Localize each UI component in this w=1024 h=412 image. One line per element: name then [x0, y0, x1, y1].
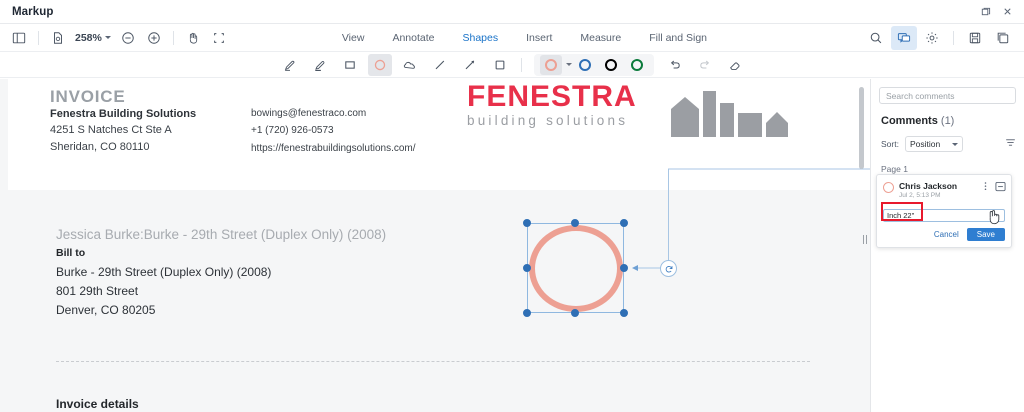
panel-splitter[interactable] — [861, 232, 869, 246]
panel-toggle-icon[interactable] — [6, 26, 32, 50]
tab-fill-and-sign[interactable]: Fill and Sign — [635, 28, 721, 48]
handle-bottom-right[interactable] — [620, 309, 628, 317]
cancel-button[interactable]: Cancel — [931, 228, 962, 241]
rectangle-tool-icon[interactable] — [338, 54, 362, 76]
sort-row: Sort: Position — [881, 135, 1016, 153]
app-title: Markup — [12, 6, 54, 18]
toolbar-divider — [38, 31, 39, 45]
comments-heading-label: Comments — [881, 115, 938, 127]
sort-value: Position — [910, 139, 940, 149]
shape-toolbar-divider — [521, 58, 522, 72]
page-icon[interactable] — [45, 26, 71, 50]
gear-icon[interactable] — [919, 26, 945, 50]
eraser-icon[interactable] — [723, 54, 747, 76]
search-comments-input[interactable]: Search comments — [879, 87, 1016, 104]
close-icon[interactable] — [996, 2, 1018, 22]
line-tool-icon[interactable] — [428, 54, 452, 76]
zoom-in-icon[interactable] — [141, 26, 167, 50]
toolbar-divider-2 — [173, 31, 174, 45]
redo-icon[interactable] — [693, 54, 717, 76]
mode-tabs: View Annotate Shapes Insert Measure Fill… — [328, 28, 721, 48]
chevron-down-icon[interactable] — [566, 63, 572, 66]
title-bar: Markup — [0, 0, 1024, 24]
selection-bounding-box — [527, 223, 624, 313]
color-swatch-green[interactable] — [626, 55, 648, 75]
comment-connector-line — [0, 79, 870, 412]
arrow-tool-icon[interactable] — [458, 54, 482, 76]
tab-insert[interactable]: Insert — [512, 28, 566, 48]
highlight-box — [881, 202, 923, 221]
tab-shapes[interactable]: Shapes — [448, 28, 512, 48]
circle-shape-icon — [883, 182, 894, 193]
marquee-select-icon[interactable] — [206, 26, 232, 50]
handle-top-right[interactable] — [620, 219, 628, 227]
comments-heading: Comments (1) — [881, 115, 1024, 127]
zoom-level-dropdown[interactable]: 258% — [71, 32, 115, 44]
ellipse-tool-icon[interactable] — [368, 54, 392, 76]
highlighter-tool-icon[interactable] — [308, 54, 332, 76]
pen-tool-icon[interactable] — [278, 54, 302, 76]
color-swatch-group — [534, 54, 654, 76]
tab-annotate[interactable]: Annotate — [378, 28, 448, 48]
search-icon[interactable] — [863, 26, 889, 50]
chevron-down-icon — [952, 143, 958, 146]
comments-count: (1) — [941, 115, 954, 127]
shape-toolbar — [0, 52, 1024, 78]
tab-view[interactable]: View — [328, 28, 379, 48]
annotation-layer — [0, 79, 870, 412]
handle-middle-left[interactable] — [523, 264, 531, 272]
page-group-label: Page 1 — [881, 164, 1024, 174]
color-swatch-black[interactable] — [600, 55, 622, 75]
zoom-level-value: 258% — [75, 32, 102, 44]
tab-measure[interactable]: Measure — [566, 28, 635, 48]
comments-sidebar: Search comments Comments (1) Sort: Posit… — [870, 79, 1024, 412]
handle-middle-right[interactable] — [620, 264, 628, 272]
handle-bottom-left[interactable] — [523, 309, 531, 317]
rotate-anchor-icon[interactable] — [660, 260, 677, 277]
comment-meta: Chris Jackson Jul 2, 5:13 PM — [899, 181, 975, 200]
color-swatch-blue[interactable] — [574, 55, 596, 75]
sort-label: Sort: — [881, 139, 899, 149]
undo-icon[interactable] — [663, 54, 687, 76]
chevron-down-icon — [105, 36, 111, 39]
document-canvas[interactable]: INVOICE Fenestra Building Solutions 4251… — [0, 79, 870, 412]
comment-header: Chris Jackson Jul 2, 5:13 PM — [883, 181, 1005, 200]
handle-top-left[interactable] — [523, 219, 531, 227]
right-toolbar — [863, 26, 1024, 50]
search-comments-placeholder: Search comments — [886, 91, 955, 101]
comment-author: Chris Jackson — [899, 181, 975, 191]
comment-timestamp: Jul 2, 5:13 PM — [899, 191, 975, 200]
more-options-icon[interactable] — [980, 181, 990, 194]
zoom-out-icon[interactable] — [115, 26, 141, 50]
mouse-cursor — [986, 209, 1002, 232]
square-tool-icon[interactable] — [488, 54, 512, 76]
comments-icon[interactable] — [891, 26, 917, 50]
save-icon[interactable] — [962, 26, 988, 50]
vertical-scrollbar[interactable] — [859, 87, 864, 169]
collapse-icon[interactable] — [995, 181, 1005, 194]
sort-dropdown[interactable]: Position — [905, 136, 963, 152]
toolbar-divider-3 — [953, 31, 954, 45]
hand-pan-icon[interactable] — [180, 26, 206, 50]
color-swatch-selected[interactable] — [540, 55, 562, 75]
duplicate-icon[interactable] — [990, 26, 1016, 50]
filter-icon[interactable] — [1005, 135, 1016, 153]
markup-app-window: Markup 258% — [0, 0, 1024, 412]
main-toolbar: 258% View Annotate Shapes Insert Measure… — [0, 24, 1024, 52]
handle-bottom-center[interactable] — [571, 309, 579, 317]
cloud-tool-icon[interactable] — [398, 54, 422, 76]
handle-top-center[interactable] — [571, 219, 579, 227]
restore-icon[interactable] — [974, 2, 996, 22]
main-area: INVOICE Fenestra Building Solutions 4251… — [0, 79, 1024, 412]
